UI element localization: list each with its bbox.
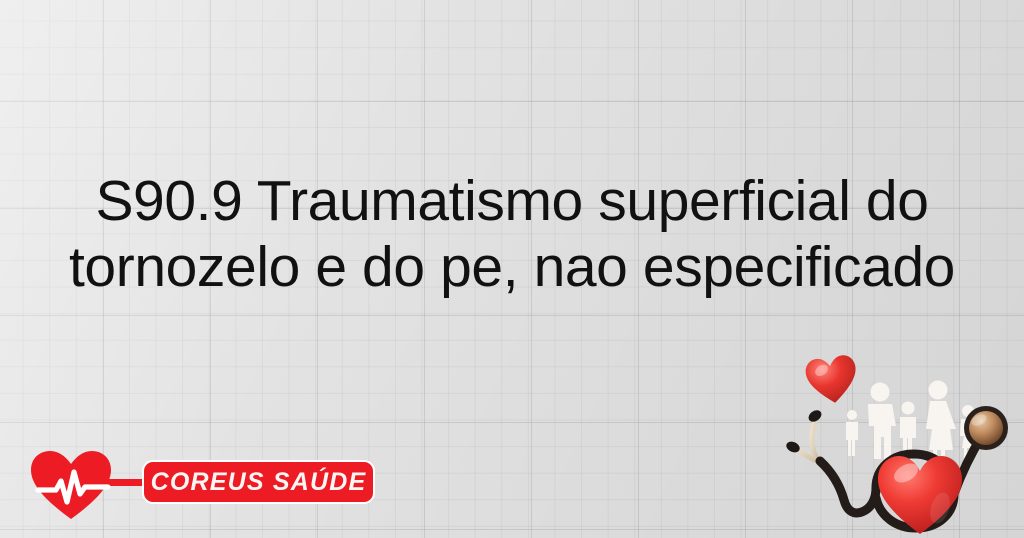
brand-name-label: COREUS SAÚDE (151, 470, 367, 495)
family-silhouette-icon (846, 381, 980, 462)
heart-pulse-icon (30, 450, 112, 520)
small-heart-icon (804, 354, 860, 407)
stethoscope-chestpiece (964, 406, 1008, 450)
poster-canvas: S90.9 Traumatismo superficial do tornoze… (0, 0, 1024, 538)
stethoscope-ear-tips (785, 408, 824, 455)
brand-logo[interactable]: COREUS SAÚDE (30, 446, 350, 520)
brand-name-pill[interactable]: COREUS SAÚDE (142, 460, 375, 504)
medical-collage (780, 348, 1024, 538)
page-title: S90.9 Traumatismo superficial do tornoze… (0, 168, 1024, 300)
stethoscope-ear-tubes (795, 418, 820, 462)
